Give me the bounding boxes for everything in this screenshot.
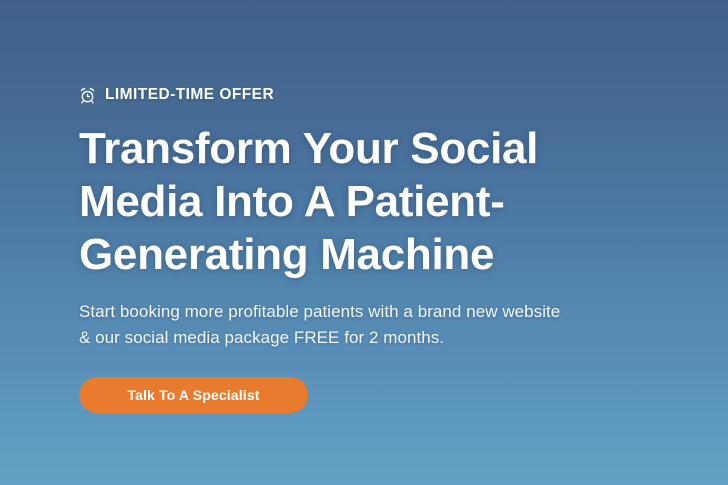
subheading-line-2: & our social media package FREE for 2 mo…	[79, 325, 659, 351]
eyebrow-badge: LIMITED-TIME OFFER	[79, 84, 679, 106]
headline-line-1: Transform Your Social	[79, 122, 579, 175]
hero-banner: LIMITED-TIME OFFER Transform Your Social…	[0, 0, 728, 485]
page-title: Transform Your Social Media Into A Patie…	[79, 122, 579, 281]
hero-subheading: Start booking more profitable patients w…	[79, 299, 659, 351]
alarm-clock-icon	[79, 87, 96, 104]
headline-line-2: Media Into A Patient-	[79, 175, 579, 228]
talk-to-a-specialist-button[interactable]: Talk To A Specialist	[79, 377, 308, 413]
eyebrow-label: LIMITED-TIME OFFER	[105, 87, 274, 103]
headline-line-3: Generating Machine	[79, 228, 579, 281]
subheading-line-1: Start booking more profitable patients w…	[79, 299, 659, 325]
hero-content: LIMITED-TIME OFFER Transform Your Social…	[79, 84, 679, 413]
